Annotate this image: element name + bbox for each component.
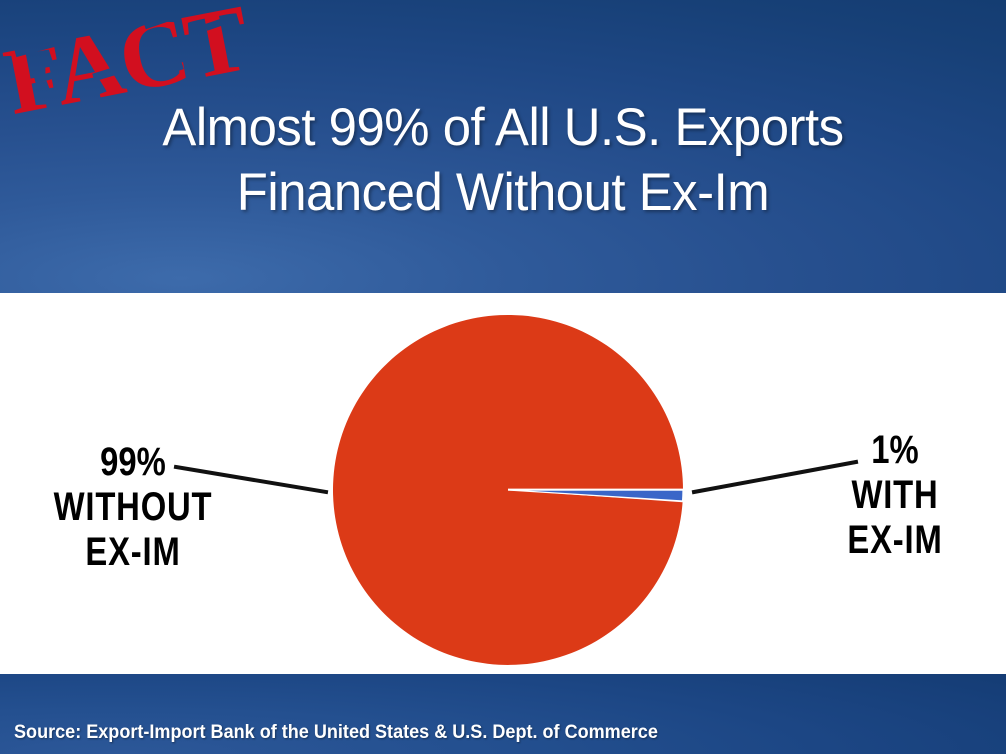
title-line-2: Financed Without Ex-Im <box>20 161 986 226</box>
callout-left-line3: EX-IM <box>39 530 228 575</box>
slide-canvas: FACT Almost 99% of All U.S. Exports Fina… <box>0 0 1006 754</box>
callout-left-line2: WITHOUT <box>39 485 228 530</box>
callout-right-line3: EX-IM <box>813 518 977 563</box>
callout-right-line2: WITH <box>813 473 977 518</box>
source-note: Source: Export-Import Bank of the United… <box>14 722 658 744</box>
callout-right-percent: 1% <box>813 428 977 473</box>
title-line-1: Almost 99% of All U.S. Exports <box>20 96 986 161</box>
callout-without-exim: 99% WITHOUT EX-IM <box>39 440 228 574</box>
callout-with-exim: 1% WITH EX-IM <box>813 428 977 562</box>
page-title: Almost 99% of All U.S. Exports Financed … <box>20 96 986 225</box>
callout-left-percent: 99% <box>39 440 228 485</box>
